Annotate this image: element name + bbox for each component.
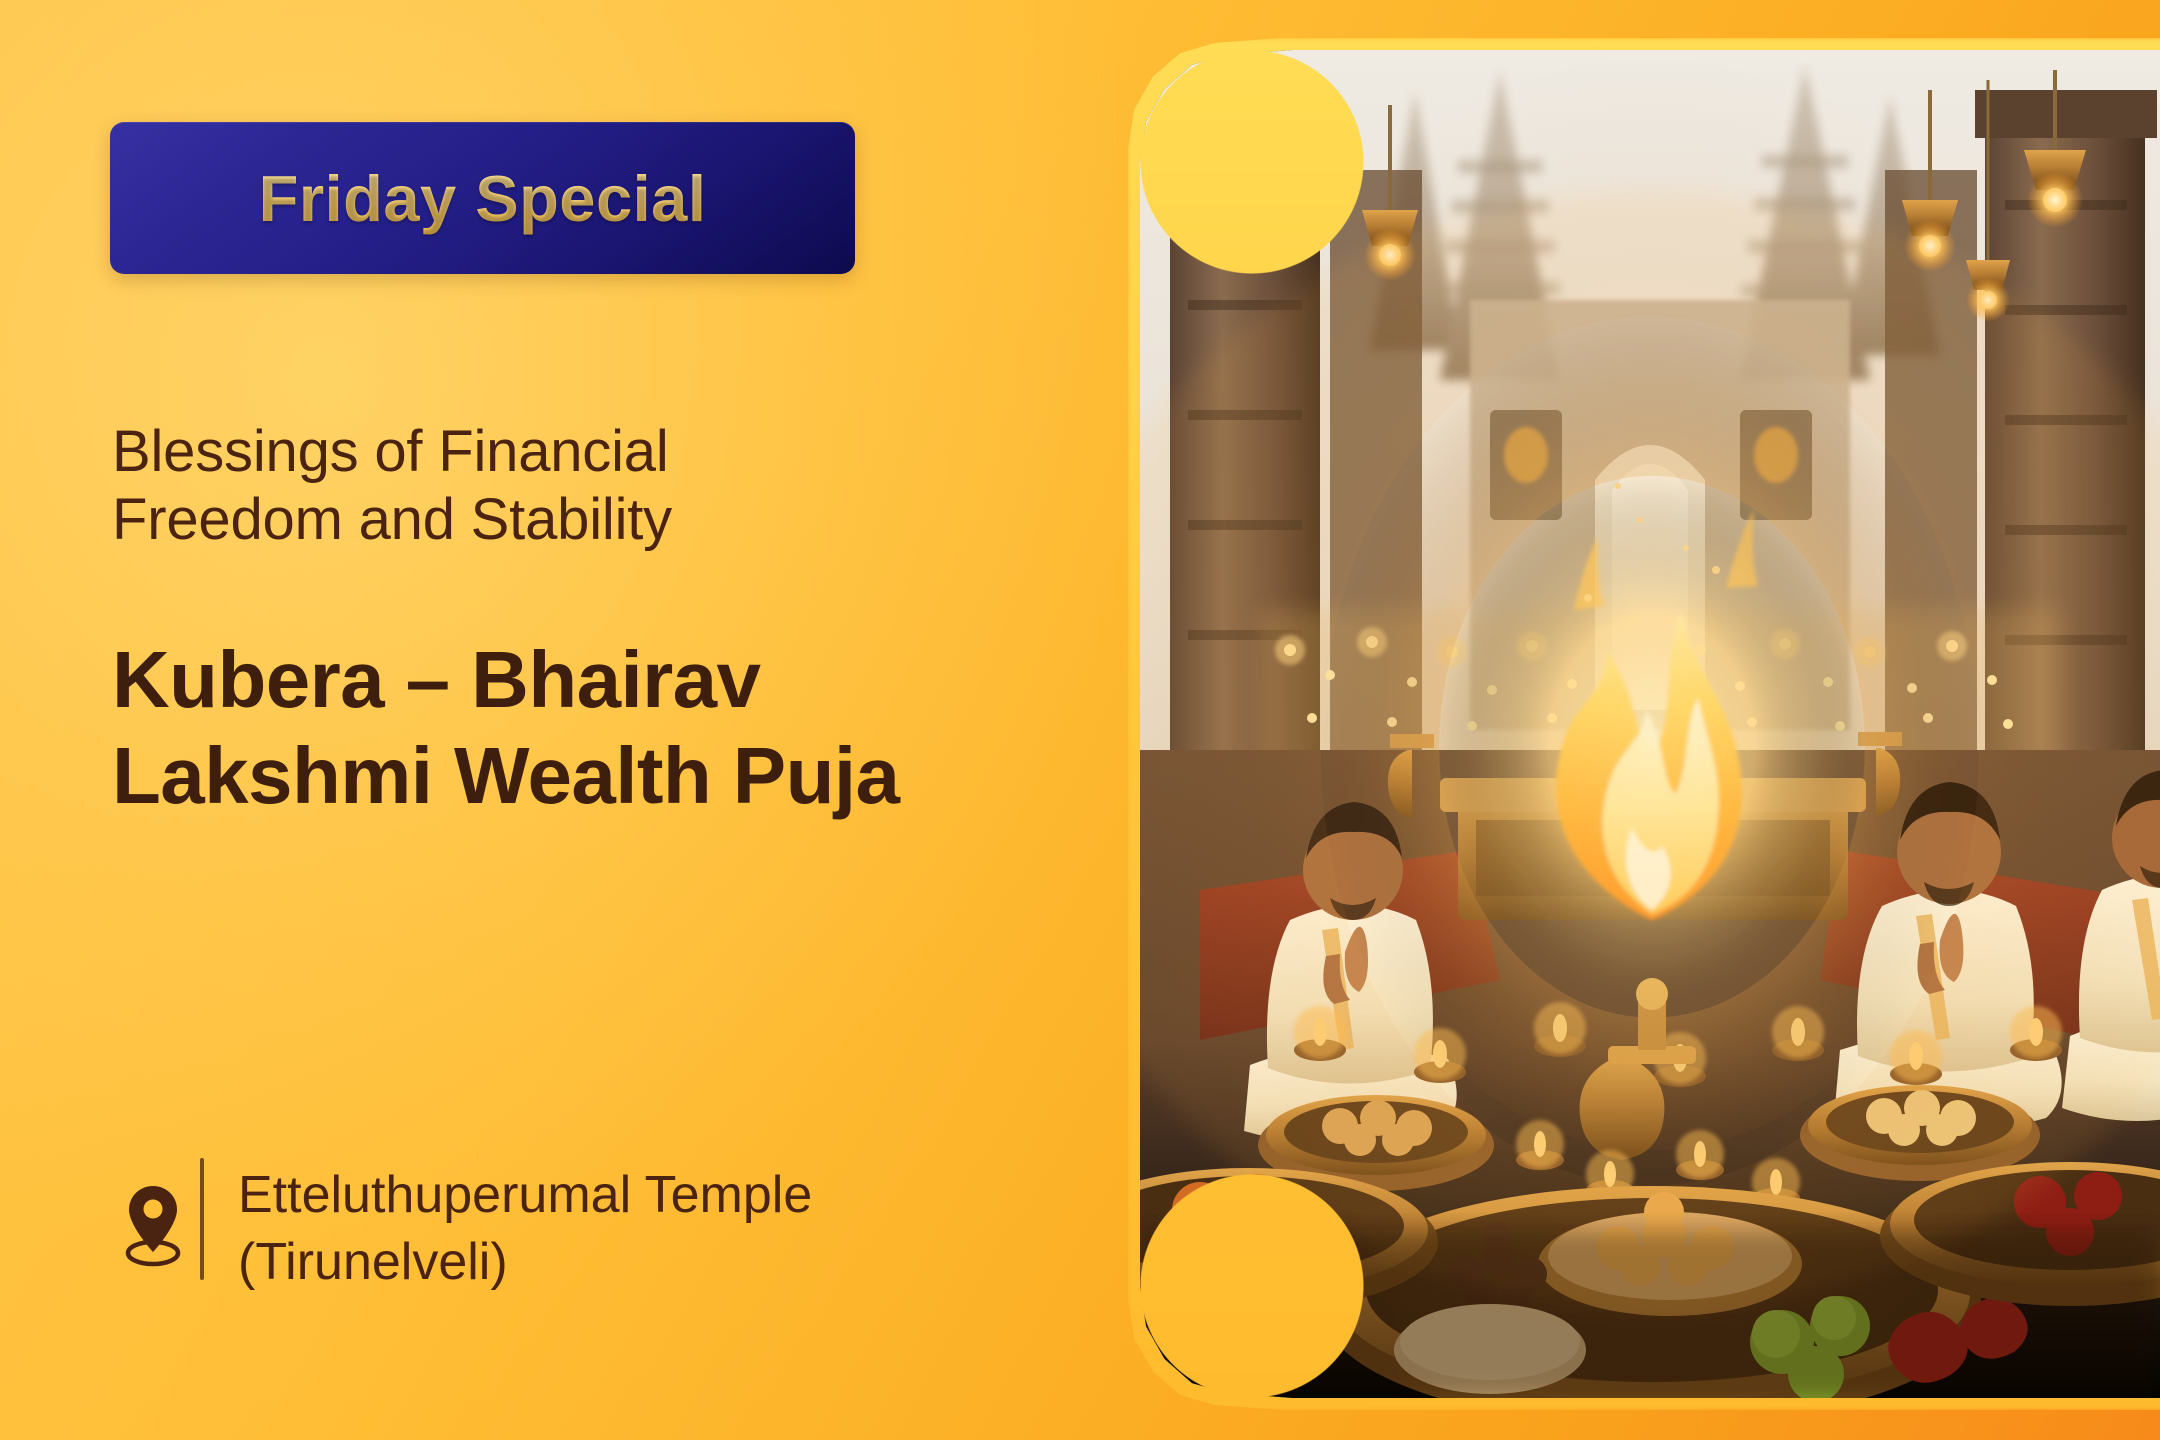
- ritual-scene-image: [1140, 50, 2160, 1398]
- map-pin-icon: [110, 1158, 196, 1278]
- location-divider: [200, 1158, 204, 1280]
- text-column: Friday Special Blessings of Financial Fr…: [110, 0, 1010, 1440]
- location-name: Etteluthuperumal Temple (Tirunelveli): [238, 1158, 878, 1295]
- page-title: Kubera – Bhairav Lakshmi Wealth Puja: [112, 632, 942, 824]
- promo-banner: Friday Special Blessings of Financial Fr…: [0, 0, 2160, 1440]
- photo-clip: [1140, 50, 2160, 1398]
- subtitle: Blessings of Financial Freedom and Stabi…: [112, 418, 902, 554]
- ritual-photo-panel: [1140, 50, 2160, 1398]
- friday-special-badge[interactable]: Friday Special: [110, 122, 855, 274]
- location-row: Etteluthuperumal Temple (Tirunelveli): [110, 1158, 878, 1295]
- badge-label: Friday Special: [259, 161, 707, 236]
